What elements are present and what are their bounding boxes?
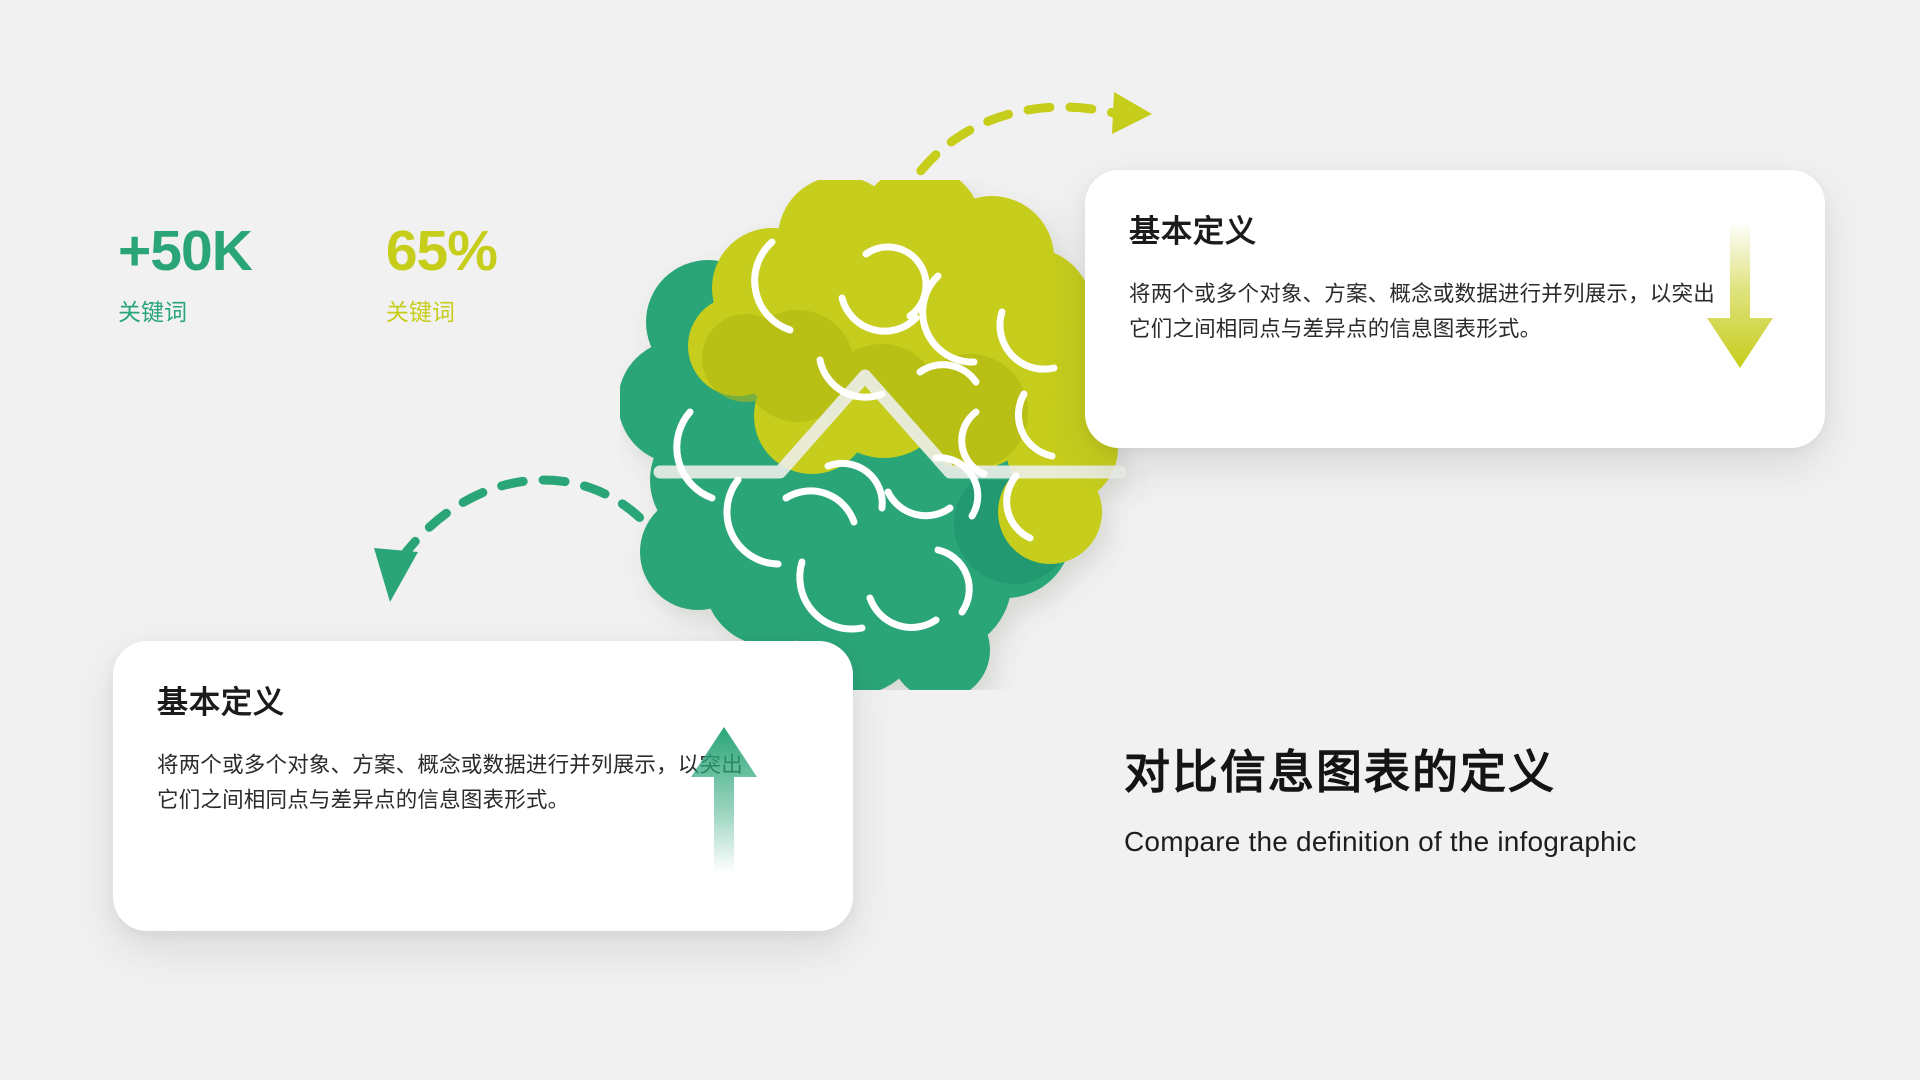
heading-block: 对比信息图表的定义 Compare the definition of the … <box>1124 744 1824 860</box>
card-title: 基本定义 <box>157 677 809 722</box>
card-body: 将两个或多个对象、方案、概念或数据进行并列展示，以突出它们之间相同点与差异点的信… <box>157 748 757 818</box>
card-title: 基本定义 <box>1129 206 1781 251</box>
arrow-down-icon <box>1703 222 1777 372</box>
slide-canvas: +50K 关键词 65% 关键词 <box>0 0 1920 1080</box>
stats-group: +50K 关键词 65% 关键词 <box>118 222 497 328</box>
heading-title-cn: 对比信息图表的定义 <box>1124 744 1824 802</box>
definition-card-bottom[interactable]: 基本定义 将两个或多个对象、方案、概念或数据进行并列展示，以突出它们之间相同点与… <box>113 641 853 931</box>
stat-label: 关键词 <box>118 296 252 328</box>
heading-subtitle-en: Compare the definition of the infographi… <box>1124 824 1824 860</box>
two-tone-brain-icon <box>620 180 1160 690</box>
dashed-arrow-bottom-left <box>360 430 680 620</box>
stat-value: +50K <box>118 222 252 282</box>
stat-value: 65% <box>386 222 497 282</box>
stat-label: 关键词 <box>386 296 497 328</box>
stat-item: 65% 关键词 <box>386 222 497 328</box>
arrow-up-icon <box>687 723 761 873</box>
card-body: 将两个或多个对象、方案、概念或数据进行并列展示，以突出它们之间相同点与差异点的信… <box>1129 277 1729 347</box>
stat-item: +50K 关键词 <box>118 222 252 328</box>
definition-card-top[interactable]: 基本定义 将两个或多个对象、方案、概念或数据进行并列展示，以突出它们之间相同点与… <box>1085 170 1825 448</box>
